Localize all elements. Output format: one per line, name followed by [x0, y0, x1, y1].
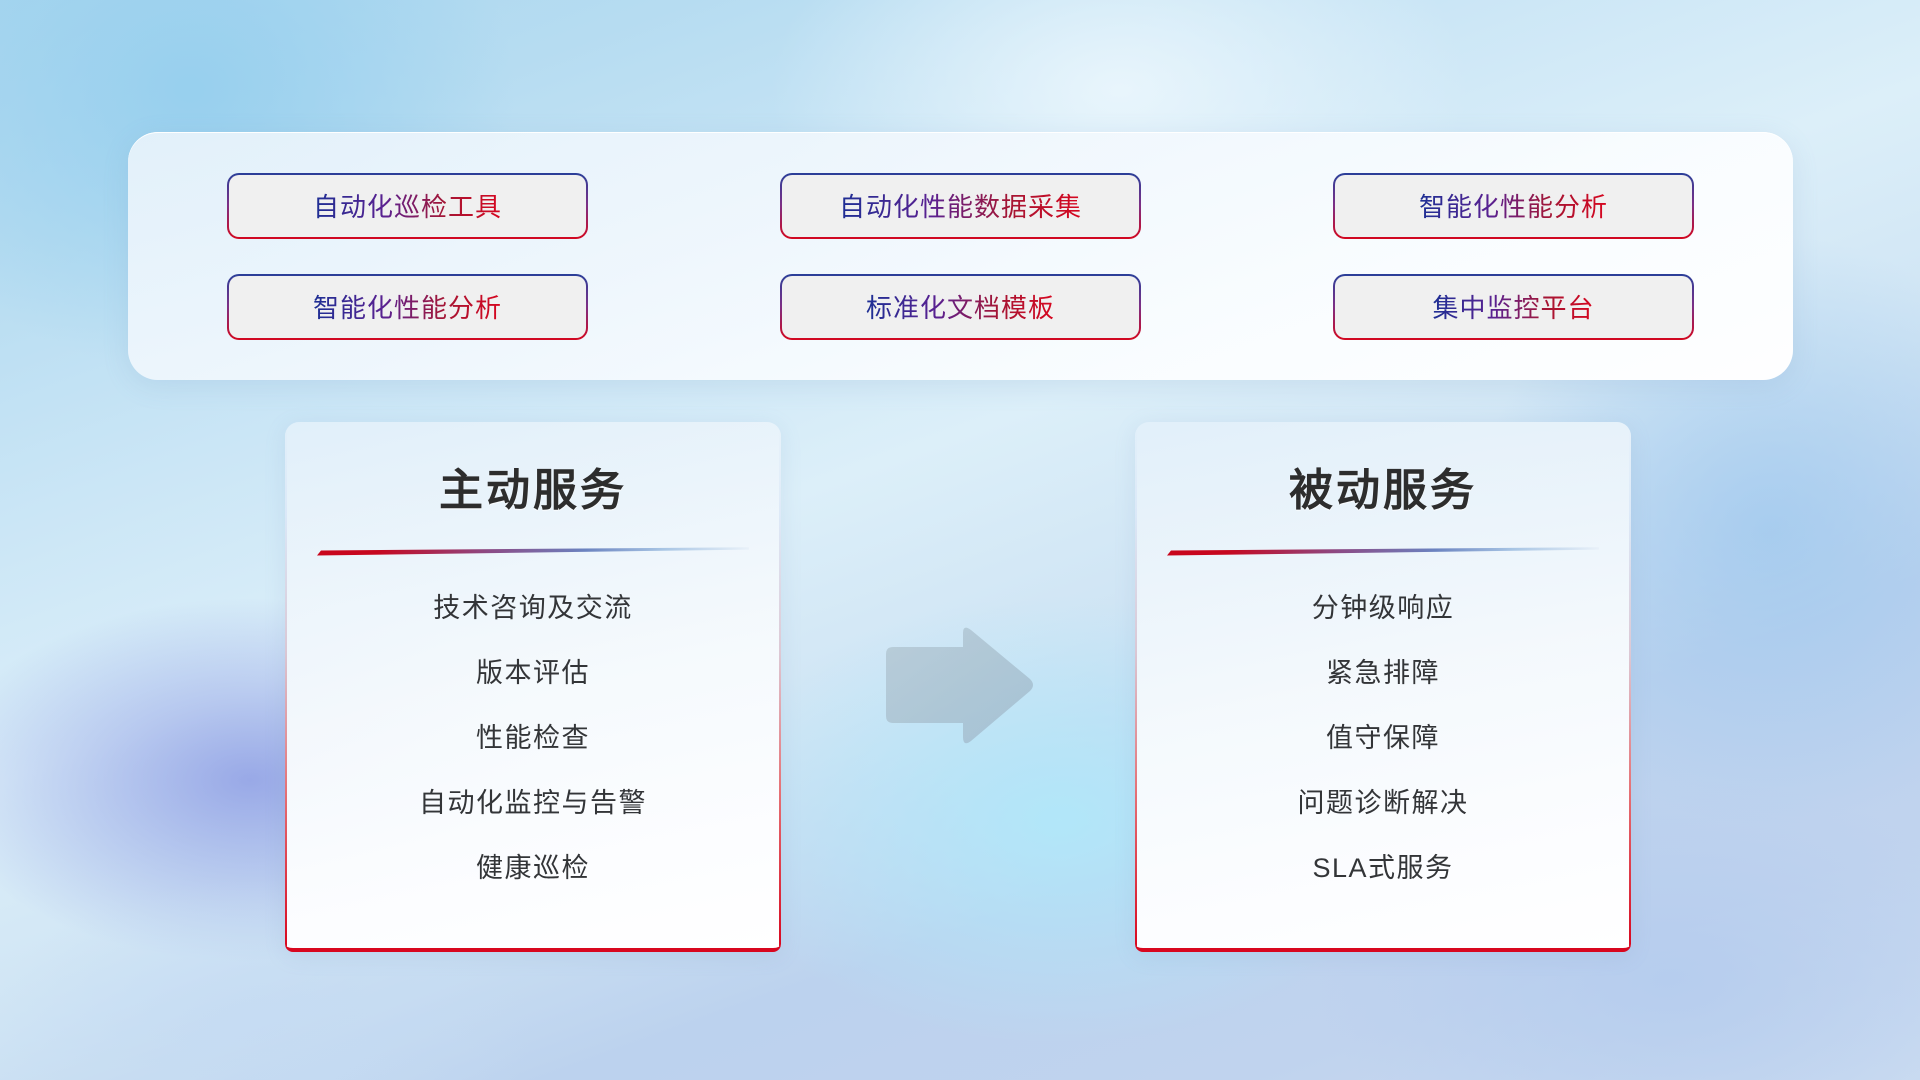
tool-pill-standard-doc-template[interactable]: 标准化文档模板 — [782, 276, 1139, 338]
list-item: 分钟级响应 — [1312, 586, 1455, 625]
list-item: 紧急排障 — [1326, 651, 1440, 690]
list-item: SLA式服务 — [1312, 846, 1453, 885]
service-card-proactive: 主动服务 技术咨询及交流 版本评估 性能检查 — [285, 422, 781, 952]
tool-pill-automated-inspection[interactable]: 自动化巡检工具 — [229, 175, 586, 237]
card-edge-left — [1135, 422, 1137, 948]
tool-pill-label: 自动化性能数据采集 — [839, 187, 1082, 224]
card-list-reactive: 分钟级响应 紧急排障 值守保障 问题诊断解决 SLA式服务 — [1135, 586, 1631, 885]
tools-grid: 自动化巡检工具 自动化性能数据采集 智能化性能分析 智能化性能分析 标准化文档模… — [229, 175, 1692, 338]
card-title-reactive: 被动服务 — [1135, 454, 1631, 518]
tool-pill-label: 智能化性能分析 — [1419, 187, 1608, 224]
card-title-proactive: 主动服务 — [285, 454, 781, 518]
list-item: 自动化监控与告警 — [419, 781, 647, 820]
slide-canvas: 自动化巡检工具 自动化性能数据采集 智能化性能分析 智能化性能分析 标准化文档模… — [0, 0, 1920, 1080]
tool-pill-label: 智能化性能分析 — [313, 288, 502, 325]
card-edge-right — [779, 422, 781, 948]
card-list-proactive: 技术咨询及交流 版本评估 性能检查 自动化监控与告警 健康巡检 — [285, 586, 781, 885]
service-card-reactive: 被动服务 分钟级响应 紧急排障 值守保障 — [1135, 422, 1631, 952]
card-divider-reactive — [1167, 546, 1599, 558]
list-item: 性能检查 — [476, 716, 590, 755]
tool-pill-label: 自动化巡检工具 — [313, 187, 502, 224]
card-edge-left — [285, 422, 287, 948]
tool-pill-label: 标准化文档模板 — [866, 288, 1055, 325]
tool-pill-central-monitoring-platform[interactable]: 集中监控平台 — [1335, 276, 1692, 338]
tool-pill-label: 集中监控平台 — [1432, 288, 1594, 325]
card-divider-proactive — [317, 546, 749, 558]
list-item: 版本评估 — [476, 651, 590, 690]
list-item: 健康巡检 — [476, 846, 590, 885]
list-item: 问题诊断解决 — [1298, 781, 1469, 820]
tool-pill-intelligent-perf-analysis-2[interactable]: 智能化性能分析 — [229, 276, 586, 338]
tool-pill-automated-perf-collection[interactable]: 自动化性能数据采集 — [782, 175, 1139, 237]
capability-tools-panel: 自动化巡检工具 自动化性能数据采集 智能化性能分析 智能化性能分析 标准化文档模… — [128, 132, 1793, 380]
list-item: 技术咨询及交流 — [433, 586, 633, 625]
list-item: 值守保障 — [1326, 716, 1440, 755]
tool-pill-intelligent-perf-analysis-1[interactable]: 智能化性能分析 — [1335, 175, 1692, 237]
arrow-right-icon — [880, 624, 1036, 748]
card-edge-right — [1629, 422, 1631, 948]
